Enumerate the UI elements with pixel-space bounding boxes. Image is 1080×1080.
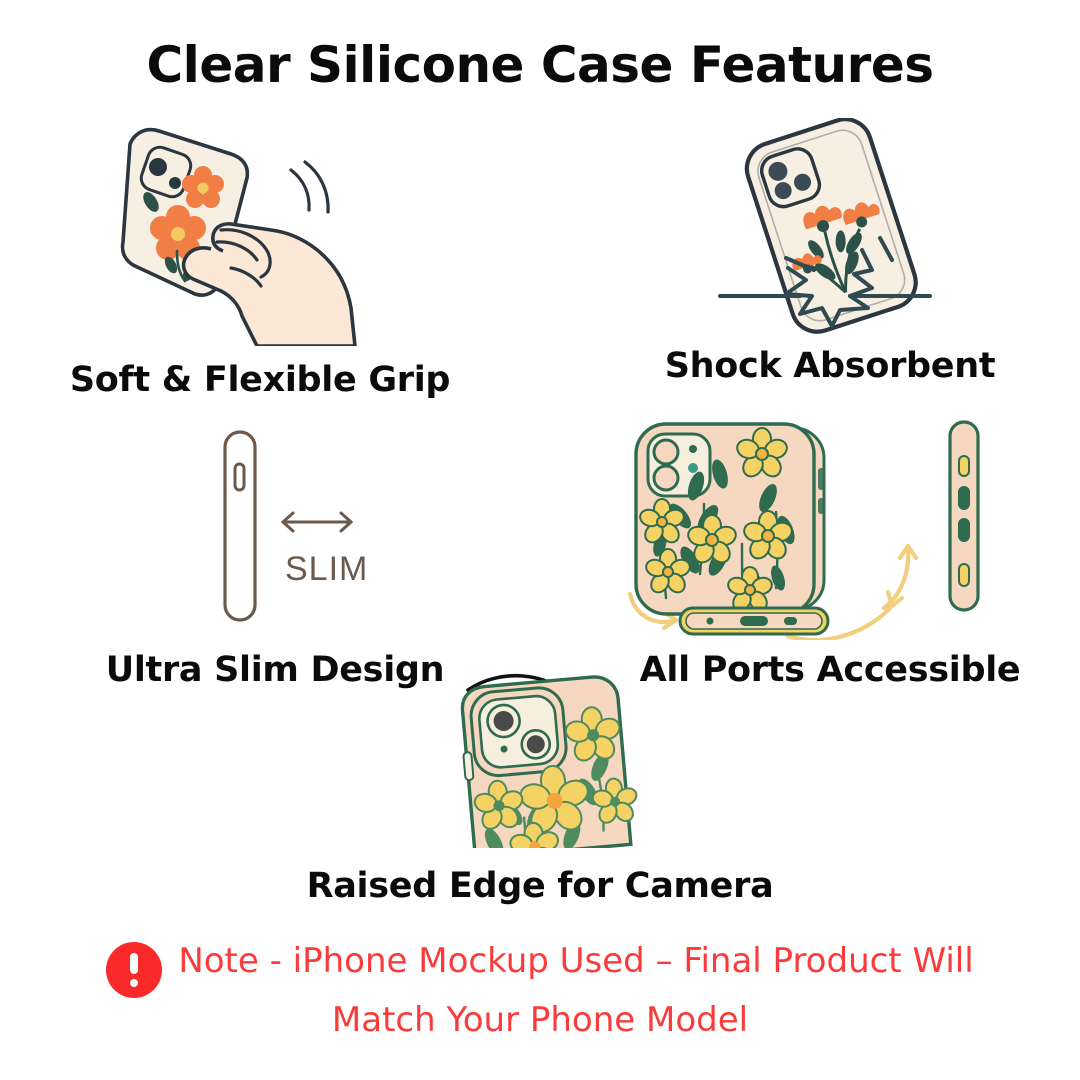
phone-back-side-bottom-ports-icon xyxy=(600,412,1060,640)
note-line-1: Note - iPhone Mockup Used – Final Produc… xyxy=(178,940,973,983)
feature-soft-flexible-grip: Soft & Flexible Grip xyxy=(25,118,495,400)
feature-label: Soft & Flexible Grip xyxy=(25,360,495,400)
phone-side-profile-thickness-icon: SLIM xyxy=(40,420,510,632)
feature-shock-absorbent: Shock Absorbent xyxy=(600,118,1060,386)
hand-holding-flexing-phone-case-icon xyxy=(25,118,495,346)
feature-raised-edge-for-camera: Raised Edge for Camera xyxy=(300,660,780,906)
note-banner: Note - iPhone Mockup Used – Final Produc… xyxy=(0,940,1080,1040)
feature-label: Raised Edge for Camera xyxy=(300,866,780,906)
exclamation-circle-icon xyxy=(106,942,162,998)
svg-text:SLIM: SLIM xyxy=(285,550,368,588)
feature-infographic-page: Clear Silicone Case Features xyxy=(0,0,1080,1080)
phone-raised-camera-bump-icon xyxy=(300,660,780,848)
phone-dropping-impact-burst-icon xyxy=(600,118,1060,336)
feature-label: Shock Absorbent xyxy=(600,346,1060,386)
page-title: Clear Silicone Case Features xyxy=(0,36,1080,94)
feature-ultra-slim-design: SLIM Ultra Slim Design xyxy=(40,420,510,690)
note-line-2: Match Your Phone Model xyxy=(332,1000,748,1040)
feature-all-ports-accessible: All Ports Accessible xyxy=(600,412,1060,690)
